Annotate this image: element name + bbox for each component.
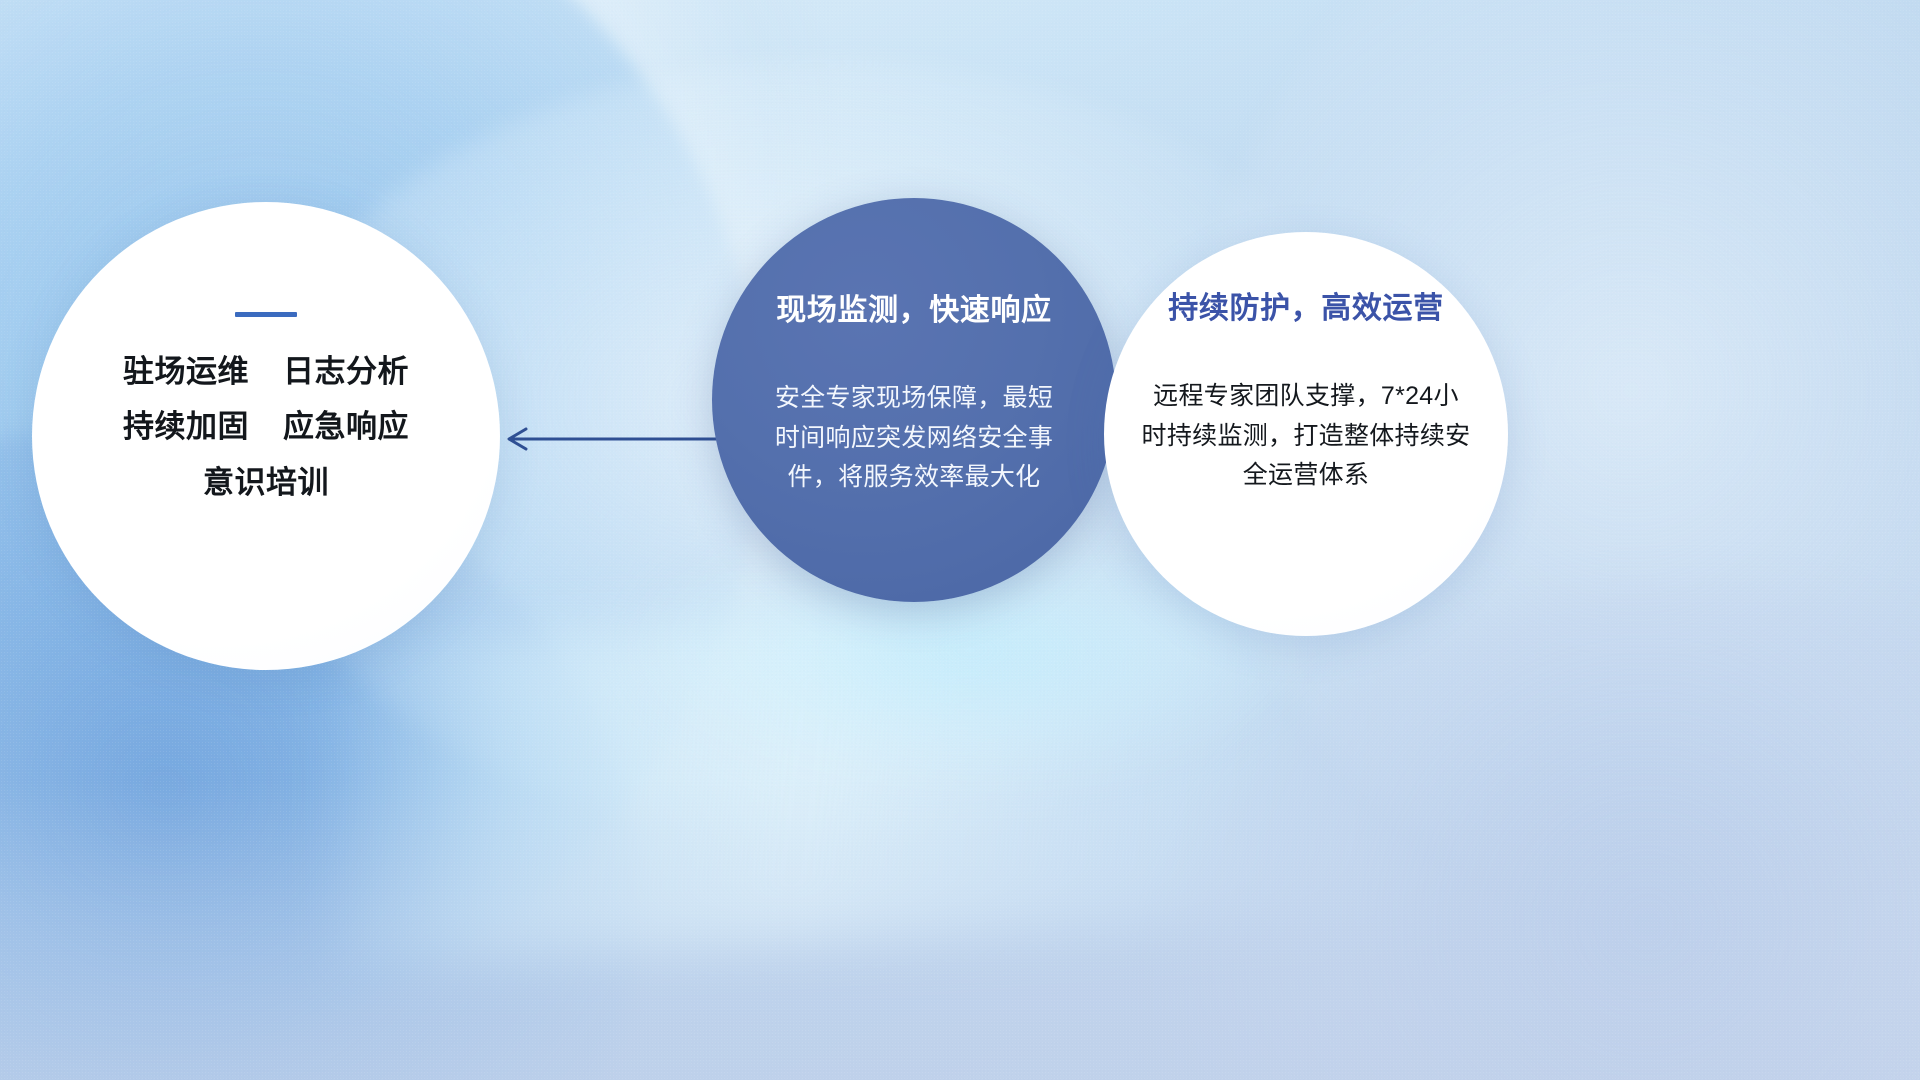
infographic-canvas: 驻场运维 日志分析 持续加固 应急响应 意识培训 现场监测，快速响应 安全专家现… bbox=[0, 0, 1920, 1080]
capability-tag: 意识培训 bbox=[203, 466, 329, 499]
divider-dash-icon bbox=[235, 312, 297, 317]
capability-tag: 持续加固 bbox=[123, 410, 249, 443]
continuous-protection-title: 持续防护，高效运营 bbox=[1168, 292, 1443, 325]
card-capabilities[interactable]: 驻场运维 日志分析 持续加固 应急响应 意识培训 bbox=[32, 202, 500, 670]
capabilities-row: 意识培训 bbox=[203, 466, 329, 499]
card-continuous-protection[interactable]: 持续防护，高效运营 远程专家团队支撑，7*24小时持续监测，打造整体持续安全运营… bbox=[1104, 232, 1508, 636]
capabilities-row: 持续加固 应急响应 bbox=[123, 410, 409, 443]
capability-tag: 应急响应 bbox=[283, 410, 409, 443]
onsite-monitoring-content: 现场监测，快速响应 安全专家现场保障，最短时间响应突发网络安全事件，将服务效率最… bbox=[712, 198, 1116, 602]
capability-tag: 驻场运维 bbox=[123, 355, 249, 388]
continuous-protection-body: 远程专家团队支撑，7*24小时持续监测，打造整体持续安全运营体系 bbox=[1141, 377, 1471, 496]
capabilities-tag-list: 驻场运维 日志分析 持续加固 应急响应 意识培训 bbox=[123, 355, 409, 499]
capabilities-row: 驻场运维 日志分析 bbox=[123, 355, 409, 388]
capability-tag: 日志分析 bbox=[283, 355, 409, 388]
capabilities-content: 驻场运维 日志分析 持续加固 应急响应 意识培训 bbox=[32, 202, 500, 670]
onsite-monitoring-body: 安全专家现场保障，最短时间响应突发网络安全事件，将服务效率最大化 bbox=[764, 379, 1064, 498]
card-onsite-monitoring[interactable]: 现场监测，快速响应 安全专家现场保障，最短时间响应突发网络安全事件，将服务效率最… bbox=[712, 198, 1116, 602]
onsite-monitoring-title: 现场监测，快速响应 bbox=[776, 294, 1051, 327]
continuous-protection-content: 持续防护，高效运营 远程专家团队支撑，7*24小时持续监测，打造整体持续安全运营… bbox=[1104, 232, 1508, 636]
